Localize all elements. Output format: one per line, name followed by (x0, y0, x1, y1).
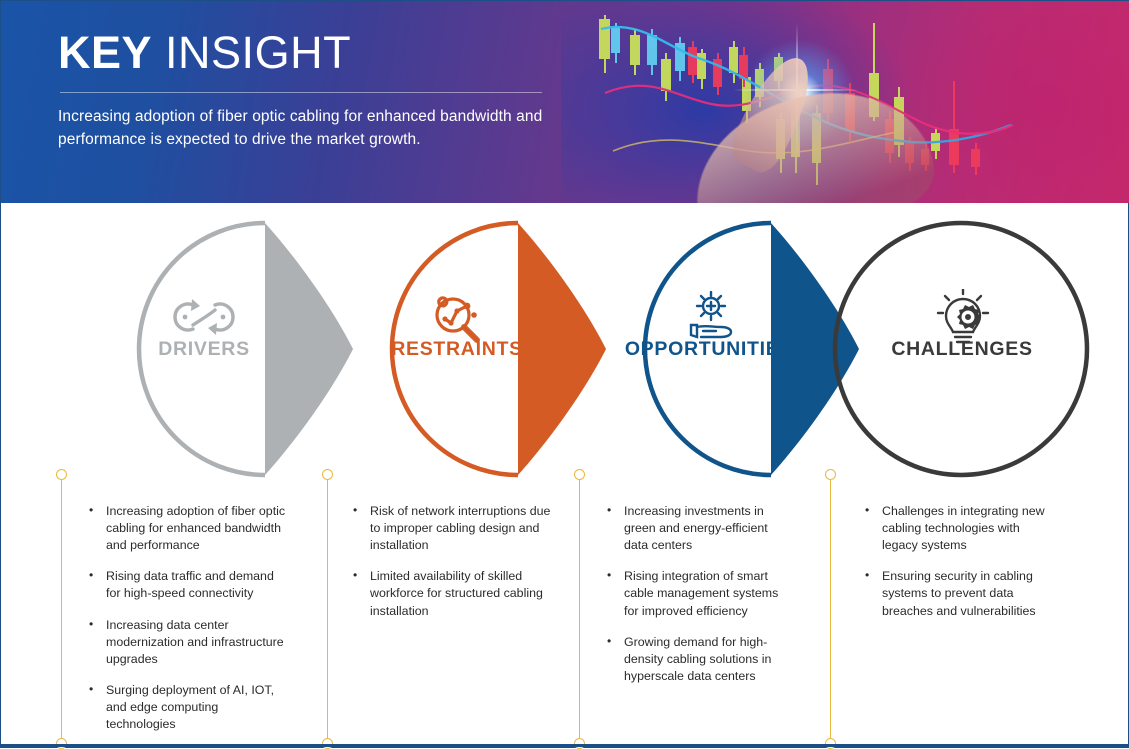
list-item: Rising integration of smart cable manage… (605, 568, 795, 619)
header-subtitle: Increasing adoption of fiber optic cabli… (58, 106, 598, 151)
node-label-opportunities: OPPORTUNITIES (591, 338, 827, 361)
header-banner: KEY INSIGHT Increasing adoption of fiber… (1, 1, 1129, 203)
bullet-column-restraints: Risk of network interruptions due to imp… (351, 503, 553, 634)
list-item: Challenges in integrating new cabling te… (863, 503, 1059, 554)
process-flow-stage: DRIVERS RESTRAINTS OPPORTUNITIES CHALLEN… (1, 203, 1129, 749)
list-item: Risk of network interruptions due to imp… (351, 503, 553, 554)
list-item: Increasing data center modernization and… (87, 617, 287, 668)
list-item: Limited availability of skilled workforc… (351, 568, 553, 619)
bullet-list-restraints: Risk of network interruptions due to imp… (351, 503, 553, 620)
column-divider-1 (61, 475, 62, 743)
node-label-challenges: CHALLENGES (859, 338, 1065, 361)
title-light-word: INSIGHT (165, 27, 351, 78)
column-divider-3 (579, 475, 580, 743)
title-bold-word: KEY (58, 27, 152, 78)
divider-dot-top (56, 469, 67, 480)
column-divider-2 (327, 475, 328, 743)
bullet-column-drivers: Increasing adoption of fiber optic cabli… (87, 503, 287, 747)
list-item: Ensuring security in cabling systems to … (863, 568, 1059, 619)
bullet-column-opportunities: Increasing investments in green and ener… (605, 503, 795, 699)
divider-dot-top (322, 469, 333, 480)
divider-dot-top (825, 469, 836, 480)
list-item: Growing demand for high-density cabling … (605, 634, 795, 685)
bottom-border-rule (1, 744, 1129, 747)
bullet-list-challenges: Challenges in integrating new cabling te… (863, 503, 1059, 620)
list-item: Surging deployment of AI, IOT, and edge … (87, 682, 287, 733)
header-text-block: KEY INSIGHT Increasing adoption of fiber… (58, 29, 598, 151)
list-item: Rising data traffic and demand for high-… (87, 568, 287, 602)
bullet-list-opportunities: Increasing investments in green and ener… (605, 503, 795, 685)
bullet-column-challenges: Challenges in integrating new cabling te… (863, 503, 1059, 634)
list-item: Increasing investments in green and ener… (605, 503, 795, 554)
column-divider-4 (830, 475, 831, 743)
node-label-drivers: DRIVERS (104, 338, 304, 361)
node-label-restraints: RESTRAINTS (342, 338, 572, 361)
bullet-list-drivers: Increasing adoption of fiber optic cabli… (87, 503, 287, 733)
header-divider-rule (60, 92, 542, 93)
list-item: Increasing adoption of fiber optic cabli… (87, 503, 287, 554)
divider-dot-top (574, 469, 585, 480)
page-title: KEY INSIGHT (58, 29, 598, 76)
